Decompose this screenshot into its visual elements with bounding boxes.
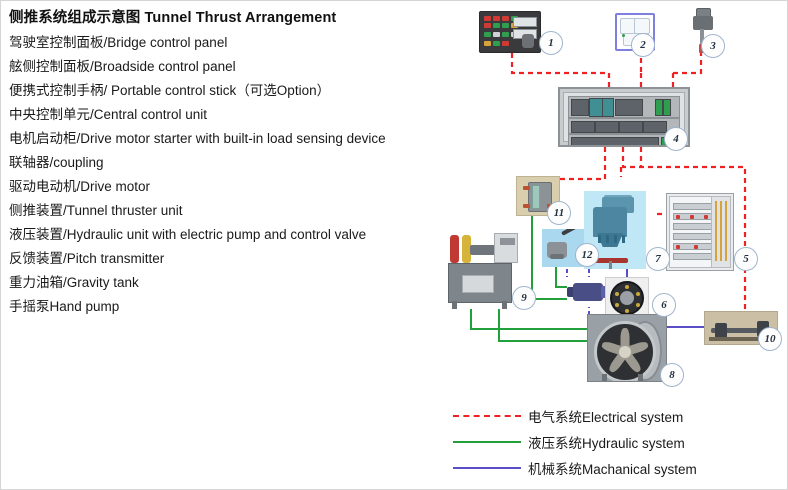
badge-3: 3 <box>701 34 725 58</box>
breaker-row-6 <box>673 253 713 260</box>
legend-label-hydraulic: 液压系统Hydraulic system <box>528 432 685 452</box>
module-teal <box>589 98 603 117</box>
fin-3 <box>614 235 617 243</box>
pump-grip <box>550 254 564 259</box>
fin-4 <box>622 235 625 243</box>
badge-8: 8 <box>660 363 684 387</box>
relay-3 <box>619 121 643 133</box>
component-hydraulic-unit[interactable] <box>444 229 520 309</box>
indicator-lamp <box>676 215 680 219</box>
thruster-body <box>593 207 627 237</box>
component-drive-motor-starter[interactable] <box>666 193 734 271</box>
legend-label-mechanical: 机械系统Machanical system <box>528 458 697 478</box>
tank-leg <box>452 301 457 309</box>
badge-11: 11 <box>547 201 571 225</box>
motor-body <box>573 283 603 301</box>
coupling-bolt-5 <box>615 303 619 307</box>
relay <box>571 121 595 133</box>
legend-row-electrical: 电气系统Electrical system <box>453 403 783 429</box>
module <box>571 99 589 116</box>
coupling-bolt-4 <box>625 309 629 313</box>
display-upper <box>513 17 537 27</box>
stick-body <box>693 16 713 30</box>
module-teal-2 <box>602 98 614 117</box>
fitting-bottom <box>523 204 530 208</box>
control-box-display <box>500 238 515 245</box>
coupling-core <box>620 291 634 305</box>
support-foot <box>602 374 607 381</box>
wire-bundle-2 <box>720 201 722 261</box>
component-bridge-control-panel[interactable] <box>479 11 541 53</box>
terminal-strip <box>571 137 659 147</box>
badge-7: 7 <box>646 247 670 271</box>
indicator-lamp-5 <box>694 245 698 249</box>
module-green <box>655 99 663 116</box>
panel-right <box>634 18 650 34</box>
badge-10: 10 <box>758 327 782 351</box>
badge-9: 9 <box>512 286 536 310</box>
breaker-row-4 <box>673 233 713 240</box>
badge-1: 1 <box>539 31 563 55</box>
sight-glass <box>532 185 540 209</box>
cabinet-side-panel <box>711 196 731 268</box>
tank-leg-2 <box>502 301 507 309</box>
shelf-top <box>568 96 680 118</box>
component-tunnel-thruster-propeller[interactable] <box>587 314 667 382</box>
breaker-row-3 <box>673 223 713 230</box>
badge-2: 2 <box>631 33 655 57</box>
joystick[interactable] <box>522 34 534 48</box>
fin-2 <box>606 235 609 243</box>
wire-bundle-3 <box>725 201 727 261</box>
module-2 <box>615 99 643 116</box>
propeller-cone <box>619 346 631 358</box>
relay-4 <box>643 121 667 133</box>
legend: 电气系统Electrical system 液压系统Hydraulic syst… <box>453 403 783 481</box>
diagram-page: 侧推系统组成示意图 Tunnel Thrust Arrangement 驾驶室控… <box>0 0 788 490</box>
badge-5: 5 <box>734 247 758 271</box>
component-coupling[interactable] <box>605 277 649 319</box>
badge-6: 6 <box>652 293 676 317</box>
coupling-bolt-2 <box>636 292 640 296</box>
legend-row-mechanical: 机械系统Machanical system <box>453 455 783 481</box>
legend-label-electrical: 电气系统Electrical system <box>528 406 683 426</box>
indicator-lamp-2 <box>690 215 694 219</box>
badge-4: 4 <box>664 127 688 151</box>
coupling-bolt-6 <box>615 292 619 296</box>
coupling-bolt-3 <box>636 303 640 307</box>
thruster-ring <box>594 321 656 382</box>
shelf-middle <box>568 118 680 134</box>
legend-row-hydraulic: 液压系统Hydraulic system <box>453 429 783 455</box>
nameplate <box>462 275 494 293</box>
coupling-bolt <box>625 285 629 289</box>
thruster-shaft <box>609 261 612 269</box>
fin <box>598 235 601 243</box>
pump-handle[interactable] <box>561 229 581 236</box>
relay-2 <box>595 121 619 133</box>
module-green-2 <box>663 99 671 116</box>
breaker-row <box>673 203 713 210</box>
badge-12: 12 <box>575 243 599 267</box>
indicator-lamp-4 <box>676 245 680 249</box>
support-foot-2 <box>638 374 643 381</box>
indicator-green <box>622 34 625 37</box>
accumulator-red <box>450 235 459 263</box>
wire-bundle <box>715 201 717 261</box>
fitting-top <box>523 186 530 190</box>
cabinet-door[interactable] <box>669 196 715 268</box>
indicator-lamp-3 <box>704 215 708 219</box>
